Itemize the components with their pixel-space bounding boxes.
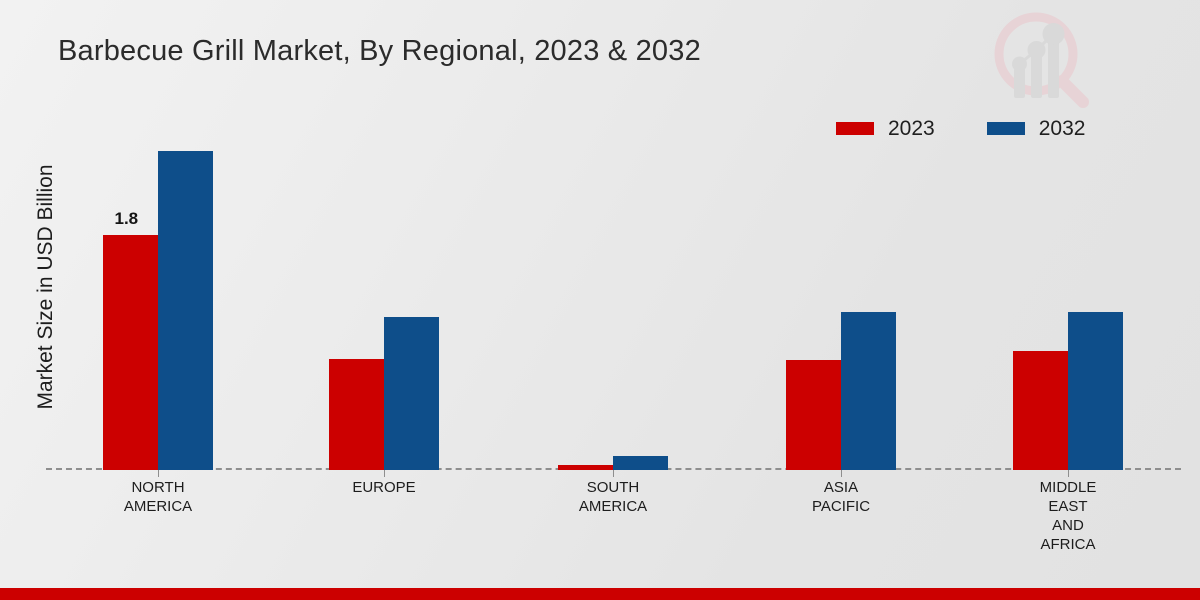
- bar-value-label: 1.8: [115, 209, 139, 229]
- x-axis-category-line: MIDDLE: [988, 478, 1148, 497]
- x-axis-category-line: NORTH: [78, 478, 238, 497]
- chart-legend: 2023 2032: [836, 118, 1085, 139]
- bar-2032-asia-pacific[interactable]: [841, 312, 896, 470]
- bar-2023-asia-pacific[interactable]: [786, 360, 841, 470]
- legend-label-2032: 2032: [1039, 118, 1086, 139]
- x-axis-category-line: AND: [988, 516, 1148, 535]
- axis-tick: [841, 470, 842, 477]
- bar-group-bars: [78, 150, 238, 470]
- bar-group: [988, 150, 1148, 470]
- bar-2032-north-america[interactable]: [158, 151, 213, 470]
- bar-group: [304, 150, 464, 470]
- bar-2032-europe[interactable]: [384, 317, 439, 470]
- x-axis-category-line: AMERICA: [533, 497, 693, 516]
- chart-page: Barbecue Grill Market, By Regional, 2023…: [0, 0, 1200, 600]
- legend-item-2023[interactable]: 2023: [836, 118, 935, 139]
- page-title: Barbecue Grill Market, By Regional, 2023…: [58, 35, 701, 68]
- x-axis-category-line: PACIFIC: [761, 497, 921, 516]
- bar-group-bars: [304, 150, 464, 470]
- legend-item-2032[interactable]: 2032: [987, 118, 1086, 139]
- bar-group: [78, 150, 238, 470]
- x-axis-category-line: EUROPE: [304, 478, 464, 497]
- x-axis-category-label: MIDDLEEASTANDAFRICA: [988, 478, 1148, 554]
- axis-tick: [384, 470, 385, 477]
- bar-group: [533, 150, 693, 470]
- axis-tick: [613, 470, 614, 477]
- legend-swatch-blue-icon: [987, 122, 1025, 135]
- x-axis-category-line: EAST: [988, 497, 1148, 516]
- x-axis-category-label: EUROPE: [304, 478, 464, 497]
- bar-group-bars: [988, 150, 1148, 470]
- x-axis-category-label: SOUTHAMERICA: [533, 478, 693, 516]
- x-axis-category-line: AFRICA: [988, 535, 1148, 554]
- x-axis-category-line: AMERICA: [78, 497, 238, 516]
- footer-accent-bar: [0, 588, 1200, 600]
- x-axis-category-line: SOUTH: [533, 478, 693, 497]
- x-axis-category-line: ASIA: [761, 478, 921, 497]
- x-axis-category-label: NORTHAMERICA: [78, 478, 238, 516]
- bar-2023-middle-east-and-africa[interactable]: [1013, 351, 1068, 470]
- bar-group: [761, 150, 921, 470]
- bar-2032-middle-east-and-africa[interactable]: [1068, 312, 1123, 470]
- legend-label-2023: 2023: [888, 118, 935, 139]
- x-axis-category-label: ASIAPACIFIC: [761, 478, 921, 516]
- bar-group-bars: [533, 150, 693, 470]
- bar-2023-south-america[interactable]: [558, 465, 613, 470]
- legend-swatch-red-icon: [836, 122, 874, 135]
- axis-tick: [1068, 470, 1069, 477]
- bar-group-bars: [761, 150, 921, 470]
- bar-2032-south-america[interactable]: [613, 456, 668, 470]
- axis-tick: [158, 470, 159, 477]
- bar-2023-north-america[interactable]: [103, 235, 158, 470]
- plot-area: 1.8: [46, 150, 1181, 470]
- magnifier-bar-chart-logo-icon: [986, 6, 1094, 110]
- bar-2023-europe[interactable]: [329, 359, 384, 470]
